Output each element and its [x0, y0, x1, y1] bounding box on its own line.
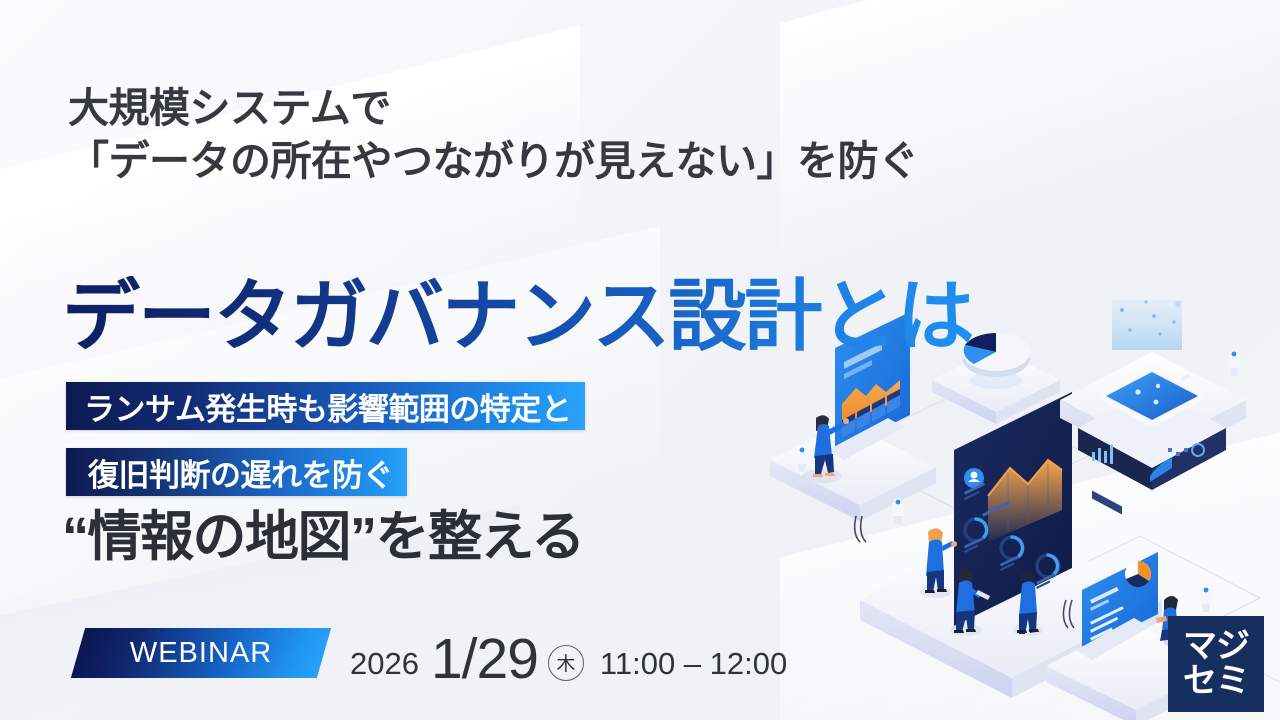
event-day: 1/29	[431, 626, 538, 692]
webinar-banner: 大規模システムで 「データの所在やつながりが見えない」を防ぐ データガバナンス設…	[0, 0, 1280, 720]
logo-line-1: マジ	[1183, 629, 1249, 664]
event-datetime: 2026 1/29 木 11:00 – 12:00	[350, 624, 787, 682]
kicker-text: 大規模システムで 「データの所在やつながりが見えない」を防ぐ	[68, 82, 1158, 189]
headline-block: 大規模システムで 「データの所在やつながりが見えない」を防ぐ データガバナンス設…	[0, 0, 1180, 720]
event-weekday-badge: 木	[548, 645, 584, 681]
decor-lamp-bottom	[1200, 586, 1212, 612]
decor-lamp-right	[1228, 350, 1240, 376]
highlight-band-1-label: ランサム発生時も影響範囲の特定と	[84, 384, 571, 429]
footer-bar: WEBINAR 2026 1/29 木 11:00 – 12:00	[0, 628, 1100, 690]
majiseminar-logo[interactable]: マジ セミ	[1168, 616, 1264, 712]
highlight-band-2: 復旧判断の遅れを防ぐ	[66, 448, 407, 496]
page-title: データガバナンス設計とは	[62, 276, 1172, 358]
webinar-badge-label: WEBINAR	[78, 628, 324, 678]
highlight-band-2-label: 復旧判断の遅れを防ぐ	[88, 450, 393, 495]
event-year: 2026	[350, 646, 419, 682]
logo-line-2: セミ	[1183, 664, 1249, 699]
highlight-band-1: ランサム発生時も影響範囲の特定と	[66, 382, 585, 430]
event-time: 11:00 – 12:00	[600, 646, 787, 682]
webinar-badge: WEBINAR	[71, 628, 331, 678]
tagline-text: “情報の地図”を整える	[62, 506, 822, 568]
